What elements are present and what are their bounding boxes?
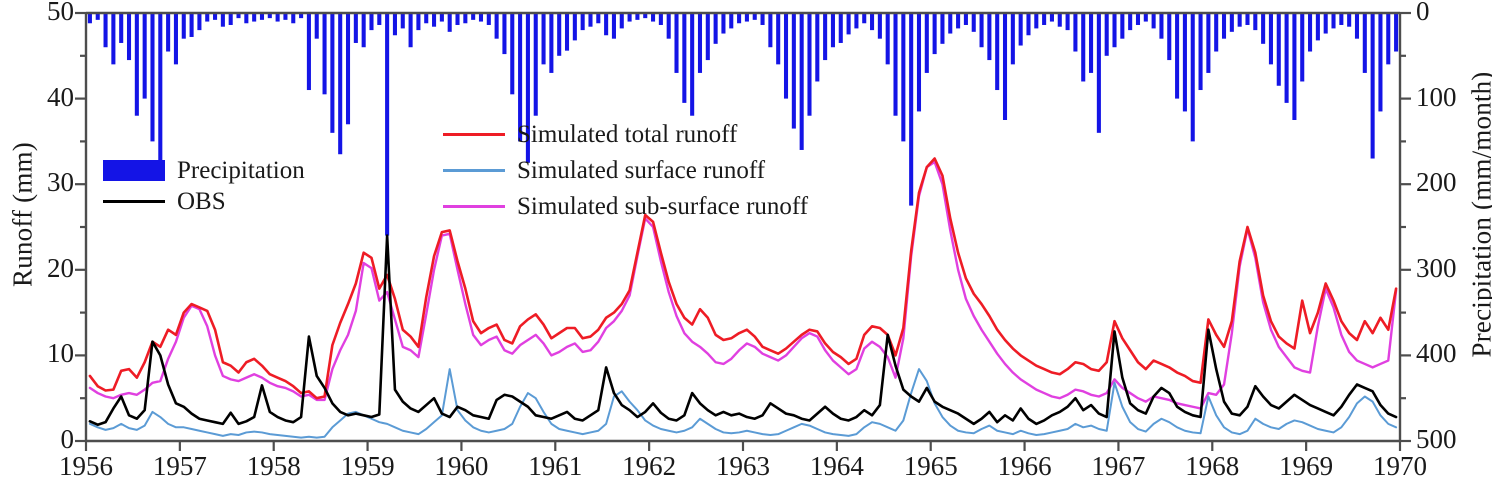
precipitation-bar bbox=[549, 13, 553, 73]
precipitation-bar bbox=[1011, 13, 1015, 64]
precipitation-bar bbox=[1394, 13, 1398, 52]
precipitation-bar bbox=[729, 13, 733, 28]
precipitation-bar bbox=[1371, 13, 1375, 159]
legend-item: Simulated sub-surface runoff bbox=[443, 188, 808, 224]
precipitation-bar bbox=[221, 13, 225, 27]
precipitation-bar bbox=[714, 13, 718, 44]
precipitation-bar bbox=[1324, 13, 1328, 34]
precipitation-bar bbox=[667, 13, 671, 39]
precipitation-bar bbox=[1378, 13, 1382, 111]
precipitation-bar bbox=[479, 13, 483, 22]
precipitation-bar bbox=[205, 13, 209, 22]
precipitation-bar bbox=[659, 13, 663, 25]
precipitation-bar bbox=[917, 13, 921, 111]
precipitation-bar bbox=[776, 13, 780, 64]
precipitation-bar bbox=[1347, 13, 1351, 27]
precipitation-bar bbox=[135, 13, 139, 116]
precipitation-bar bbox=[1019, 13, 1023, 46]
precipitation-bar bbox=[1058, 13, 1062, 27]
precipitation-bar bbox=[1206, 13, 1210, 73]
precipitation-bar bbox=[104, 13, 108, 47]
precipitation-bar bbox=[150, 13, 154, 141]
precipitation-bar bbox=[980, 13, 984, 47]
legend-label: Simulated sub-surface runoff bbox=[517, 194, 808, 219]
precipitation-bar bbox=[940, 13, 944, 44]
precipitation-bar bbox=[1230, 13, 1234, 32]
precipitation-bar bbox=[1238, 13, 1242, 27]
precipitation-bar bbox=[1308, 13, 1312, 52]
precipitation-bar bbox=[792, 13, 796, 129]
legend-swatch-line-icon bbox=[103, 200, 165, 203]
precipitation-bar bbox=[847, 13, 851, 34]
precipitation-bar bbox=[1183, 13, 1187, 111]
precipitation-bar bbox=[893, 13, 897, 116]
precipitation-bar bbox=[1331, 13, 1335, 28]
precipitation-bar bbox=[1253, 13, 1257, 30]
precipitation-bar bbox=[620, 13, 624, 28]
precipitation-bar bbox=[628, 13, 632, 22]
precipitation-bar bbox=[823, 13, 827, 60]
precipitation-bar bbox=[1144, 13, 1148, 22]
precipitation-bar bbox=[182, 13, 186, 39]
precipitation-bar bbox=[972, 13, 976, 32]
precipitation-bar bbox=[862, 13, 866, 23]
precipitation-bar bbox=[409, 13, 413, 47]
legend-item: Precipitation bbox=[103, 155, 305, 186]
precipitation-bar bbox=[987, 13, 991, 60]
precipitation-bar bbox=[768, 13, 772, 47]
precipitation-bar bbox=[995, 13, 999, 90]
precipitation-bar bbox=[737, 13, 741, 23]
precipitation-bar bbox=[377, 13, 381, 25]
precipitation-bar bbox=[127, 13, 131, 60]
precipitation-bar bbox=[1152, 13, 1156, 28]
precipitation-bar bbox=[1089, 13, 1093, 73]
precipitation-bar bbox=[565, 13, 569, 51]
legend-swatch-line-icon bbox=[443, 205, 505, 208]
precipitation-bar bbox=[432, 13, 436, 27]
precipitation-bar bbox=[229, 13, 233, 25]
precipitation-bar bbox=[463, 13, 467, 23]
precipitation-bar bbox=[870, 13, 874, 30]
precipitation-bar bbox=[455, 13, 459, 25]
precipitation-bar bbox=[706, 13, 710, 60]
precipitation-bar bbox=[307, 13, 311, 90]
legend-item: OBS bbox=[103, 186, 305, 217]
precipitation-bar bbox=[88, 13, 92, 23]
precipitation-bar bbox=[448, 13, 452, 32]
precipitation-bar bbox=[964, 13, 968, 25]
precipitation-bar bbox=[1167, 13, 1171, 60]
precipitation-bar bbox=[1300, 13, 1304, 81]
precipitation-bar bbox=[495, 13, 499, 39]
precipitation-bar bbox=[190, 13, 194, 37]
precipitation-bar bbox=[1034, 13, 1038, 28]
legend-label: Simulated total runoff bbox=[517, 122, 737, 147]
precipitation-bar bbox=[831, 13, 835, 47]
precipitation-bar bbox=[330, 13, 334, 133]
precipitation-bar bbox=[854, 13, 858, 28]
legend-swatch-line-icon bbox=[443, 133, 505, 136]
precipitation-bar bbox=[761, 13, 765, 25]
precipitation-bar bbox=[1073, 13, 1077, 52]
precipitation-bar bbox=[1050, 13, 1054, 22]
legend-swatch-box-icon bbox=[103, 160, 165, 181]
legend-swatch-line-icon bbox=[443, 169, 505, 172]
precipitation-bar bbox=[393, 13, 397, 35]
precipitation-bar bbox=[487, 13, 491, 25]
legend-precipitation-obs: PrecipitationOBS bbox=[103, 155, 305, 217]
precipitation-bar bbox=[1199, 13, 1203, 90]
precipitation-bar bbox=[440, 13, 444, 22]
precipitation-bar bbox=[1285, 13, 1289, 103]
precipitation-bar bbox=[510, 13, 514, 94]
precipitation-bar bbox=[925, 13, 929, 73]
precipitation-bar bbox=[1120, 13, 1124, 39]
precipitation-bar bbox=[815, 13, 819, 81]
precipitation-bar bbox=[362, 13, 366, 47]
precipitation-bar bbox=[502, 13, 506, 54]
precipitation-bar bbox=[784, 13, 788, 99]
precipitation-bar bbox=[1316, 13, 1320, 40]
legend-item: Simulated total runoff bbox=[443, 116, 808, 152]
precipitation-bar bbox=[323, 13, 327, 94]
precipitation-bar bbox=[682, 13, 686, 103]
precipitation-bar bbox=[956, 13, 960, 28]
precipitation-bar bbox=[143, 13, 147, 99]
precipitation-bar bbox=[690, 13, 694, 116]
precipitation-bar bbox=[1277, 13, 1281, 86]
precipitation-bar bbox=[534, 13, 538, 116]
precipitation-bar bbox=[909, 13, 913, 206]
precipitation-bar bbox=[1269, 13, 1273, 64]
precipitation-bar bbox=[111, 13, 115, 64]
precipitation-bar bbox=[354, 13, 358, 43]
precipitation-bar bbox=[315, 13, 319, 39]
precipitation-bar bbox=[596, 13, 600, 23]
precipitation-bar bbox=[1128, 13, 1132, 30]
precipitation-bar bbox=[901, 13, 905, 141]
precipitation-bar bbox=[878, 13, 882, 39]
precipitation-bar bbox=[1066, 13, 1070, 30]
precipitation-bar bbox=[1042, 13, 1046, 25]
precipitation-bar bbox=[1214, 13, 1218, 52]
precipitation-bar bbox=[1026, 13, 1030, 35]
precipitation-bar bbox=[416, 13, 420, 30]
chart-figure: Runoff (mm) Precipitation (mm/month) 010… bbox=[0, 0, 1492, 479]
precipitation-bar bbox=[1003, 13, 1007, 120]
precipitation-bar bbox=[948, 13, 952, 34]
legend-label: Precipitation bbox=[177, 158, 305, 183]
precipitation-bar bbox=[291, 13, 295, 23]
precipitation-bar bbox=[276, 13, 280, 22]
precipitation-bar bbox=[1386, 13, 1390, 64]
precipitation-bar bbox=[385, 13, 389, 236]
precipitation-bar bbox=[1112, 13, 1116, 47]
precipitation-bar bbox=[252, 13, 256, 22]
precipitation-bar bbox=[1097, 13, 1101, 133]
precipitation-bar bbox=[1136, 13, 1140, 25]
precipitation-bar bbox=[698, 13, 702, 73]
legend-item: Simulated surface runoff bbox=[443, 152, 808, 188]
precipitation-bar bbox=[588, 13, 592, 27]
precipitation-bar bbox=[158, 13, 162, 163]
precipitation-bar bbox=[557, 13, 561, 56]
precipitation-bar bbox=[1363, 13, 1367, 73]
precipitation-bar bbox=[807, 13, 811, 116]
precipitation-bar bbox=[1105, 13, 1109, 56]
precipitation-bar bbox=[542, 13, 546, 64]
precipitation-bar bbox=[612, 13, 616, 39]
precipitation-bar bbox=[369, 13, 373, 30]
precipitation-bar bbox=[721, 13, 725, 34]
precipitation-bar bbox=[166, 13, 170, 52]
legend-label: OBS bbox=[177, 189, 226, 214]
precipitation-bar bbox=[197, 13, 201, 30]
precipitation-bar bbox=[338, 13, 342, 154]
precipitation-bar bbox=[886, 13, 890, 64]
precipitation-bar bbox=[839, 13, 843, 43]
precipitation-bar bbox=[119, 13, 123, 43]
precipitation-bar bbox=[1081, 13, 1085, 81]
precipitation-bar bbox=[174, 13, 178, 64]
legend-simulated-series: Simulated total runoffSimulated surface … bbox=[443, 116, 808, 224]
precipitation-bar bbox=[573, 13, 577, 40]
precipitation-bar bbox=[581, 13, 585, 30]
precipitation-bar bbox=[1292, 13, 1296, 120]
precipitation-bar bbox=[604, 13, 608, 35]
precipitation-bar bbox=[1245, 13, 1249, 25]
plot-area bbox=[0, 0, 1492, 479]
precipitation-bar bbox=[1339, 13, 1343, 25]
precipitation-bar bbox=[1222, 13, 1226, 39]
precipitation-bar bbox=[424, 13, 428, 23]
precipitation-bar bbox=[346, 13, 350, 124]
precipitation-bar bbox=[933, 13, 937, 54]
precipitation-bar bbox=[1261, 13, 1265, 44]
precipitation-bar bbox=[1159, 13, 1163, 39]
precipitation-bar bbox=[1355, 13, 1359, 39]
precipitation-bar bbox=[674, 13, 678, 73]
precipitation-bar bbox=[244, 13, 248, 23]
precipitation-bar bbox=[745, 13, 749, 22]
precipitation-bar bbox=[1191, 13, 1195, 141]
precipitation-bar bbox=[651, 13, 655, 22]
precipitation-bar bbox=[401, 13, 405, 28]
legend-label: Simulated surface runoff bbox=[517, 158, 765, 183]
precipitation-bar bbox=[1175, 13, 1179, 99]
